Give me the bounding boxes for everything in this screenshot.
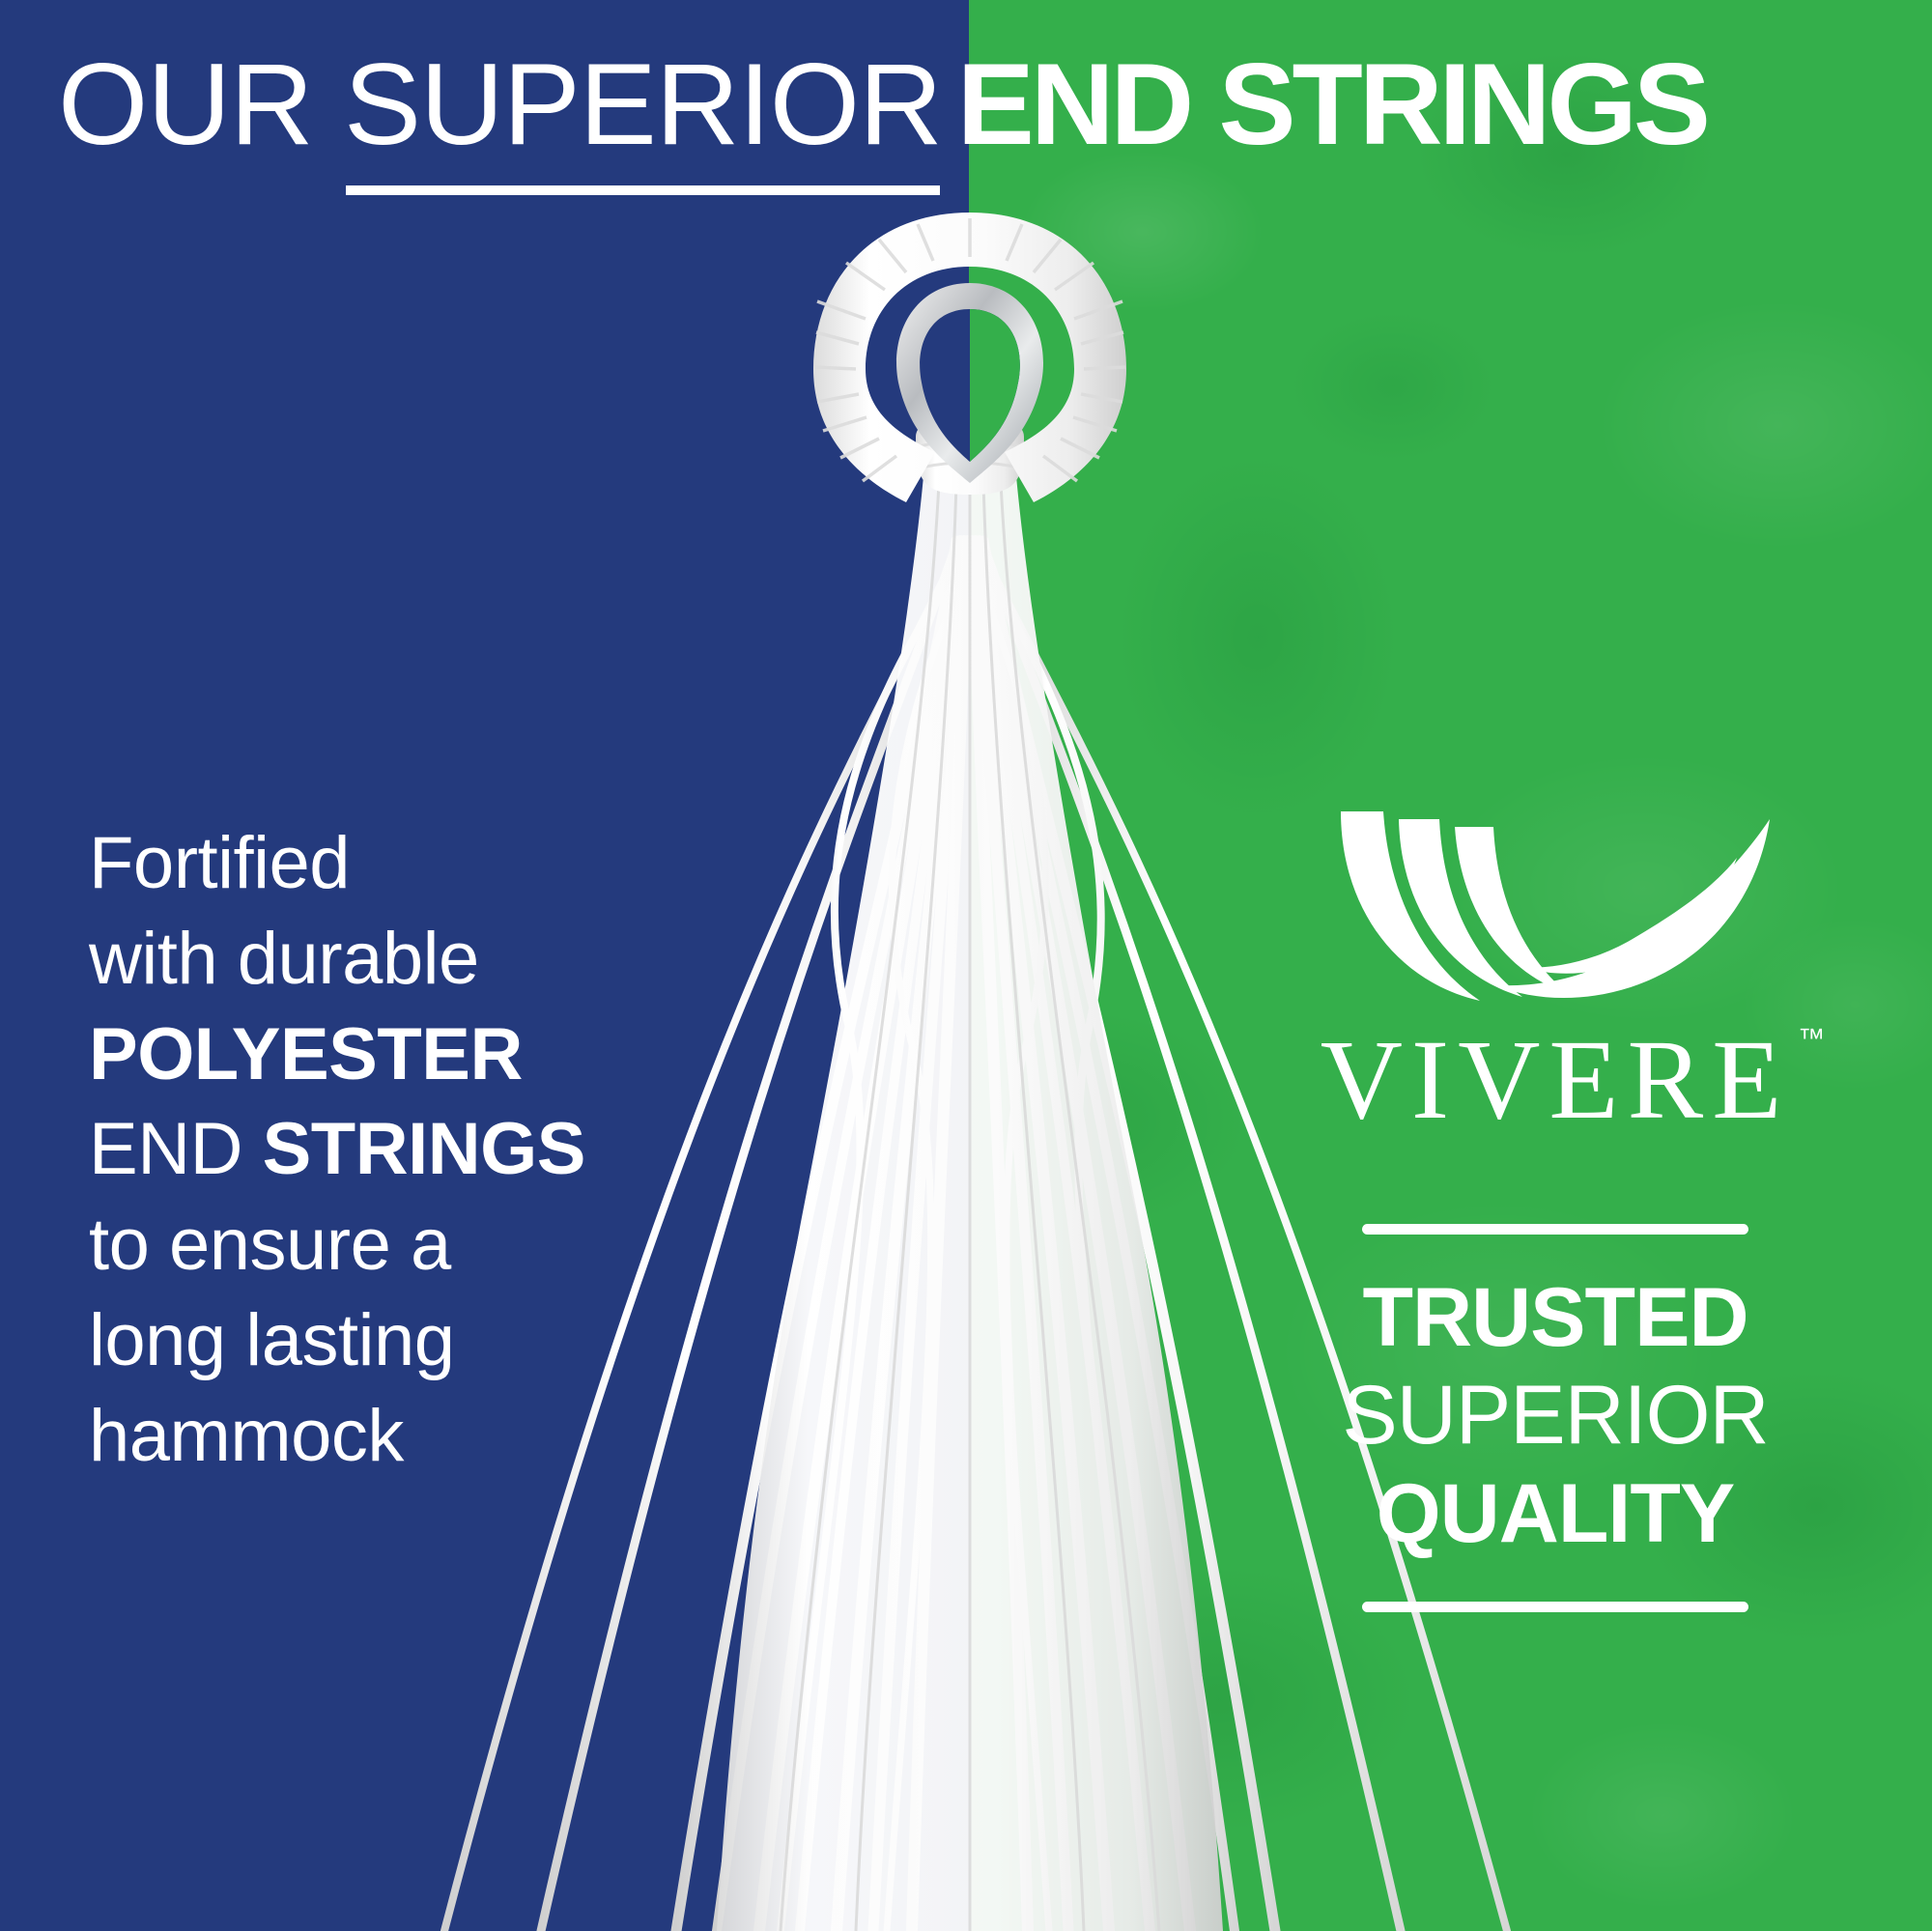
trademark-icon: ™ bbox=[1798, 1025, 1825, 1052]
brand-tagline: TRUSTED SUPERIOR QUALITY bbox=[1256, 1269, 1855, 1563]
vivere-wordmark: VIVERE ™ bbox=[1321, 1023, 1791, 1137]
feature-description: Fortified with durable POLYESTER END STR… bbox=[89, 816, 688, 1485]
body-line-7: hammock bbox=[89, 1389, 688, 1485]
product-feature-poster: OUR SUPERIOREND STRINGS Fortified with d… bbox=[0, 0, 1932, 1931]
body-line-6: long lasting bbox=[89, 1293, 688, 1389]
tagline-superior: SUPERIOR bbox=[1256, 1367, 1855, 1464]
divider-rule-top bbox=[1362, 1224, 1748, 1235]
body-line-1: Fortified bbox=[89, 816, 688, 912]
body-line-3-polyester: POLYESTER bbox=[89, 1008, 688, 1103]
tagline-quality: QUALITY bbox=[1256, 1465, 1855, 1563]
body-line-5: to ensure a bbox=[89, 1198, 688, 1293]
brand-block: VIVERE ™ TRUSTED SUPERIOR QUALITY bbox=[1256, 802, 1855, 1612]
body-line-4-strings: STRINGS bbox=[263, 1108, 585, 1190]
body-line-4: END STRINGS bbox=[89, 1102, 688, 1198]
vivere-hammock-swoosh-logo-icon bbox=[1333, 802, 1777, 1009]
body-line-4-end: END bbox=[89, 1108, 263, 1190]
body-line-2: with durable bbox=[89, 912, 688, 1008]
divider-rule-bottom bbox=[1362, 1602, 1748, 1612]
tagline-trusted: TRUSTED bbox=[1256, 1269, 1855, 1367]
vivere-wordmark-text: VIVERE bbox=[1321, 1016, 1791, 1143]
